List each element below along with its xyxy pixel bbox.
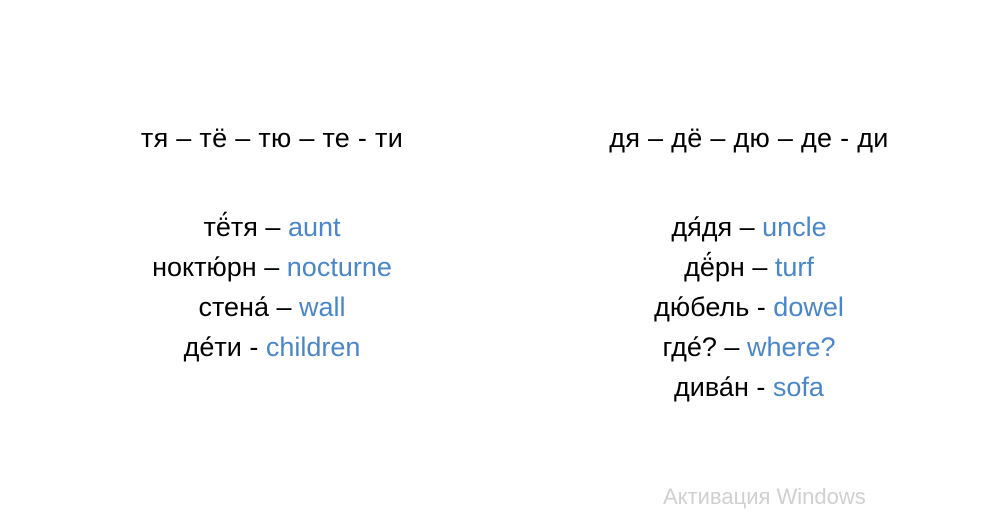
word-translation: nocturne [287, 252, 392, 282]
word-term: дя́дя [671, 212, 732, 242]
slide-canvas: тя – тё – тю – те - ти тё́тя – aunt нокт… [0, 0, 993, 507]
word-separator: – [264, 252, 279, 282]
word-translation: where? [747, 332, 836, 362]
word-separator: – [265, 212, 280, 242]
word-list-left: тё́тя – aunt ноктю́рн – nocturne стена́ … [96, 207, 448, 367]
word-translation: sofa [773, 372, 824, 402]
word-row: дю́бель - dowel [573, 287, 925, 327]
windows-activation-watermark: Активация Windows [663, 484, 963, 510]
word-translation: wall [299, 292, 346, 322]
word-translation: children [266, 332, 361, 362]
word-row: де́ти - children [96, 327, 448, 367]
word-row: стена́ – wall [96, 287, 448, 327]
word-term: где́? [662, 332, 716, 362]
word-row: дя́дя – uncle [573, 207, 925, 247]
word-row: где́? – where? [573, 327, 925, 367]
word-separator: – [276, 292, 291, 322]
syllable-column-left: тя – тё – тю – те - ти тё́тя – aunt нокт… [96, 118, 448, 367]
word-list-right: дя́дя – uncle дё́рн – turf дю́бель - dow… [573, 207, 925, 407]
word-term: ноктю́рн [152, 252, 257, 282]
word-term: дю́бель [654, 292, 749, 322]
syllable-column-right: дя – дё – дю – де - ди дя́дя – uncle дё́… [573, 118, 925, 407]
word-row: дё́рн – turf [573, 247, 925, 287]
word-term: тё́тя [204, 212, 258, 242]
word-translation: uncle [762, 212, 827, 242]
word-separator: - [756, 372, 765, 402]
word-term: дё́рн [684, 252, 745, 282]
word-term: де́ти [184, 332, 242, 362]
word-translation: turf [775, 252, 814, 282]
word-row: ноктю́рн – nocturne [96, 247, 448, 287]
column-header-right: дя – дё – дю – де - ди [573, 118, 925, 158]
word-separator: - [249, 332, 258, 362]
word-translation: aunt [288, 212, 341, 242]
watermark-title: Активация Windows [663, 484, 963, 510]
column-header-left: тя – тё – тю – те - ти [96, 118, 448, 158]
word-term: дива́н [674, 372, 749, 402]
word-separator: – [740, 212, 755, 242]
word-separator: – [724, 332, 739, 362]
word-row: дива́н - sofa [573, 367, 925, 407]
word-translation: dowel [773, 292, 844, 322]
word-separator: - [757, 292, 766, 322]
word-separator: – [752, 252, 767, 282]
word-term: стена́ [198, 292, 269, 322]
word-row: тё́тя – aunt [96, 207, 448, 247]
